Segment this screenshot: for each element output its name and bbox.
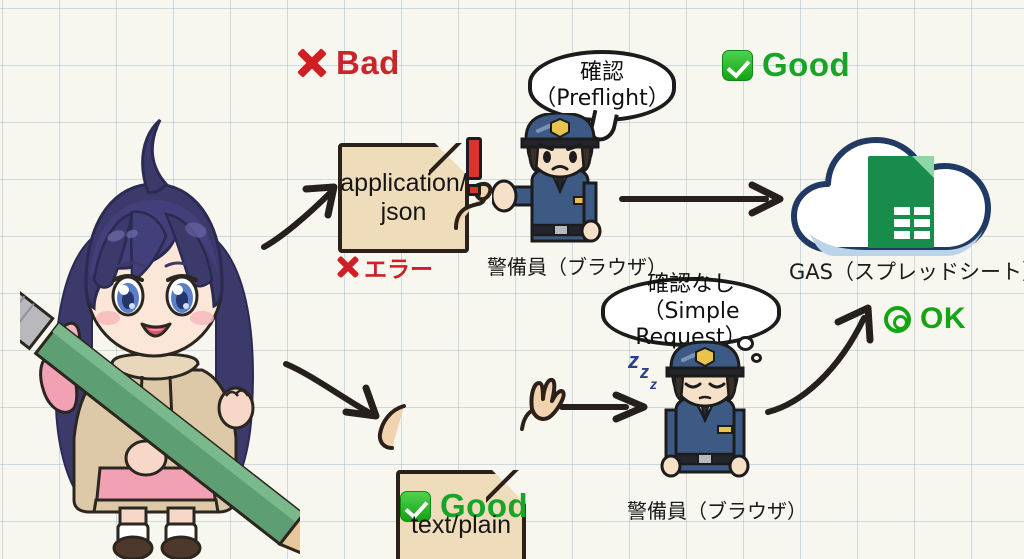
plain-doc-line1: text/plain [405,511,517,540]
json-doc-line1: application/ [340,169,466,197]
red-x-mark-icon [337,256,359,278]
text-plain-document: text/plain [396,470,526,559]
green-double-circle-icon [884,306,911,333]
document-left-arm [372,400,406,456]
good-label-top: Good [722,46,850,84]
preflight-bubble: 確認 （Preflight） [528,50,676,122]
ok-label-text: OK [920,302,966,336]
bad-label-text: Bad [336,44,400,82]
arrow-plain-to-guard [560,392,650,422]
arrow-guard-to-cloud-up [760,300,880,420]
ok-label: OK [884,302,966,336]
document-waving-hand [516,371,566,433]
preflight-bubble-line2: （Preflight） [534,86,669,112]
red-x-mark-icon [297,48,327,78]
guard-caption-bottom: 警備員（ブラウザ） [627,495,807,524]
application-json-document: application/ json [338,143,469,253]
green-check-box-icon [722,50,753,81]
error-label-text: エラー [364,250,433,284]
json-doc-line2: json [381,198,427,226]
google-sheets-icon [868,156,934,248]
error-label: エラー [337,250,433,284]
simple-request-bubble: 確認なし （Simple Request） [601,277,781,347]
arrow-guard-to-cloud [620,182,786,216]
good-label-top-text: Good [762,46,850,84]
preflight-bubble-line1: 確認 [580,60,624,86]
anime-girl-character [20,108,300,559]
diagram-canvas: Bad Good 確認 （Preflight） application/ jso… [0,0,1024,559]
cloud-gas [790,128,996,258]
police-officer-asleep [650,340,760,480]
bad-label: Bad [297,44,400,82]
police-officer-awake [492,113,612,249]
simple-request-line1: 確認なし [647,272,735,298]
guard-caption-top: 警備員（ブラウザ） [487,251,667,280]
gas-caption: GAS（スプレッドシート） [789,256,1024,286]
